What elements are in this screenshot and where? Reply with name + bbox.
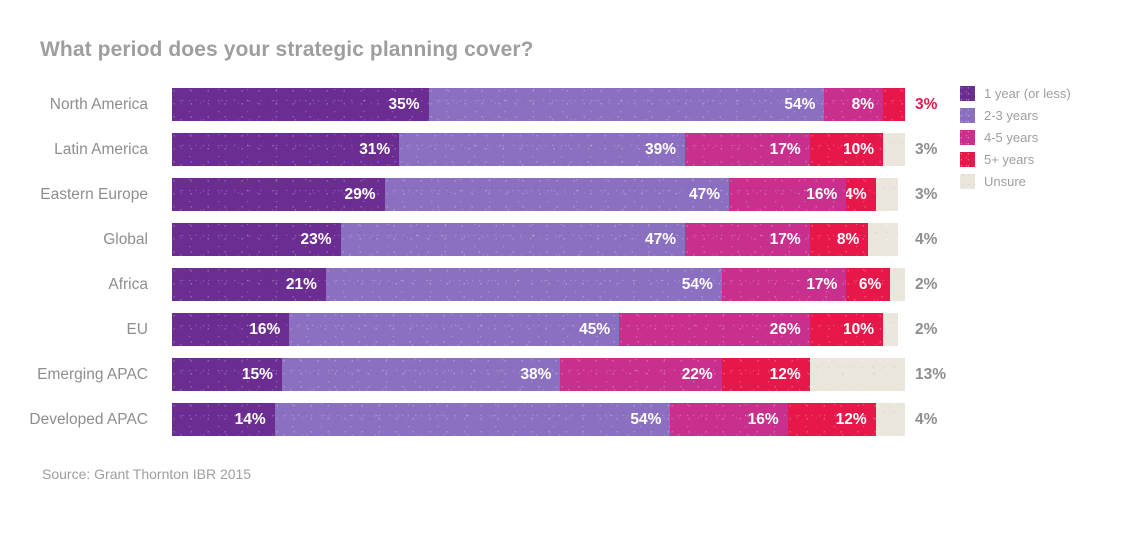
row-outside-value: 13% <box>915 358 946 391</box>
category-label-africa: Africa <box>0 268 160 301</box>
row-outside-value: 2% <box>915 268 937 301</box>
bar-row: Eastern Europe29%47%16%4%3% <box>0 178 1124 211</box>
bar-segment-y1: 31% <box>172 133 399 166</box>
segment-value-label: 10% <box>843 321 883 339</box>
plot-area: North America35%54%8%3%Latin America31%3… <box>0 88 1124 448</box>
segment-value-label: 22% <box>682 366 722 384</box>
legend-label: Unsure <box>984 174 1026 189</box>
legend-label: 4-5 years <box>984 130 1038 145</box>
segment-value-label: 23% <box>301 231 341 249</box>
bar-segment-y45: 17% <box>722 268 847 301</box>
bar-segment-unsure <box>876 403 905 436</box>
bar-segment-y1: 21% <box>172 268 326 301</box>
bar-row: Global23%47%17%8%4% <box>0 223 1124 256</box>
row-outside-value: 4% <box>915 223 937 256</box>
segment-value-label: 35% <box>389 96 429 114</box>
segment-value-label: 45% <box>579 321 619 339</box>
bar-segment-y5p: 10% <box>810 313 883 346</box>
bar-segment-y23: 39% <box>399 133 685 166</box>
segment-value-label: 54% <box>784 96 824 114</box>
legend-swatch-icon <box>960 130 975 145</box>
bar-segment-y5p <box>883 88 905 121</box>
segment-value-label: 15% <box>242 366 282 384</box>
chart-legend: 1 year (or less)2-3 years4-5 years5+ yea… <box>960 86 1071 189</box>
segment-value-label: 8% <box>852 96 883 114</box>
stacked-bar: 23%47%17%8% <box>172 223 905 256</box>
segment-value-label: 38% <box>520 366 560 384</box>
segment-value-label: 16% <box>806 186 846 204</box>
bar-row: Emerging APAC15%38%22%12%13% <box>0 358 1124 391</box>
segment-value-label: 26% <box>770 321 810 339</box>
segment-value-label: 31% <box>359 141 399 159</box>
segment-value-label: 16% <box>748 411 788 429</box>
legend-item-y5p[interactable]: 5+ years <box>960 152 1071 167</box>
legend-swatch-icon <box>960 86 975 101</box>
stacked-bar: 35%54%8% <box>172 88 905 121</box>
segment-value-label: 16% <box>249 321 289 339</box>
segment-value-label: 47% <box>645 231 685 249</box>
stacked-bar: 15%38%22%12% <box>172 358 905 391</box>
bar-segment-y5p: 12% <box>722 358 810 391</box>
segment-value-label: 14% <box>235 411 275 429</box>
segment-value-label: 4% <box>846 186 875 204</box>
bar-segment-unsure <box>868 223 897 256</box>
legend-label: 2-3 years <box>984 108 1038 123</box>
bar-segment-unsure <box>810 358 905 391</box>
stacked-bar: 21%54%17%6% <box>172 268 905 301</box>
bar-segment-y5p: 8% <box>810 223 869 256</box>
bar-segment-y1: 16% <box>172 313 289 346</box>
segment-value-label: 10% <box>843 141 883 159</box>
row-outside-value: 3% <box>915 178 937 211</box>
bar-segment-y45: 22% <box>560 358 721 391</box>
legend-label: 1 year (or less) <box>984 86 1071 101</box>
bar-segment-y45: 17% <box>685 223 810 256</box>
bar-segment-y5p: 10% <box>810 133 883 166</box>
stacked-bar: 29%47%16%4% <box>172 178 905 211</box>
legend-item-unsure[interactable]: Unsure <box>960 174 1071 189</box>
segment-value-label: 29% <box>345 186 385 204</box>
legend-label: 5+ years <box>984 152 1034 167</box>
segment-value-label: 17% <box>770 141 810 159</box>
bar-segment-y23: 54% <box>326 268 722 301</box>
category-label-latin-america: Latin America <box>0 133 160 166</box>
bar-segment-y23: 38% <box>282 358 561 391</box>
bar-row: EU16%45%26%10%2% <box>0 313 1124 346</box>
row-outside-value: 4% <box>915 403 937 436</box>
bar-segment-y23: 47% <box>385 178 730 211</box>
segment-value-label: 12% <box>836 411 876 429</box>
category-label-global: Global <box>0 223 160 256</box>
bar-segment-y45: 8% <box>824 88 883 121</box>
category-label-eu: EU <box>0 313 160 346</box>
chart-title: What period does your strategic planning… <box>40 38 534 62</box>
bar-segment-unsure <box>883 313 898 346</box>
bar-row: Latin America31%39%17%10%3% <box>0 133 1124 166</box>
bar-segment-y1: 23% <box>172 223 341 256</box>
legend-swatch-icon <box>960 108 975 123</box>
segment-value-label: 54% <box>630 411 670 429</box>
legend-swatch-icon <box>960 174 975 189</box>
stacked-bar: 16%45%26%10% <box>172 313 905 346</box>
bar-segment-y5p: 12% <box>788 403 876 436</box>
bar-segment-unsure <box>890 268 905 301</box>
legend-item-y23[interactable]: 2-3 years <box>960 108 1071 123</box>
category-label-eastern-europe: Eastern Europe <box>0 178 160 211</box>
bar-segment-y1: 29% <box>172 178 385 211</box>
bar-segment-y45: 26% <box>619 313 810 346</box>
row-outside-value: 2% <box>915 313 937 346</box>
bar-segment-y23: 47% <box>341 223 686 256</box>
bar-segment-y45: 16% <box>670 403 787 436</box>
bar-segment-y5p: 4% <box>846 178 875 211</box>
bar-segment-y1: 35% <box>172 88 429 121</box>
bar-segment-y23: 54% <box>275 403 671 436</box>
category-label-developed-apac: Developed APAC <box>0 403 160 436</box>
bar-segment-y45: 17% <box>685 133 810 166</box>
segment-value-label: 17% <box>770 231 810 249</box>
bar-row: Africa21%54%17%6%2% <box>0 268 1124 301</box>
bar-segment-y45: 16% <box>729 178 846 211</box>
segment-value-label: 39% <box>645 141 685 159</box>
stacked-bar: 14%54%16%12% <box>172 403 905 436</box>
segment-value-label: 8% <box>837 231 868 249</box>
legend-item-y1[interactable]: 1 year (or less) <box>960 86 1071 101</box>
bar-segment-unsure <box>876 178 898 211</box>
category-label-emerging-apac: Emerging APAC <box>0 358 160 391</box>
source-note: Source: Grant Thornton IBR 2015 <box>42 466 251 482</box>
bar-segment-y23: 54% <box>429 88 825 121</box>
segment-value-label: 12% <box>770 366 810 384</box>
bar-segment-y1: 14% <box>172 403 275 436</box>
bar-segment-unsure <box>883 133 905 166</box>
legend-swatch-icon <box>960 152 975 167</box>
stacked-bar: 31%39%17%10% <box>172 133 905 166</box>
category-label-north-america: North America <box>0 88 160 121</box>
bar-row: Developed APAC14%54%16%12%4% <box>0 403 1124 436</box>
segment-value-label: 21% <box>286 276 326 294</box>
row-outside-value: 3% <box>915 88 937 121</box>
bar-segment-y23: 45% <box>289 313 619 346</box>
chart-container: What period does your strategic planning… <box>0 0 1124 543</box>
segment-value-label: 47% <box>689 186 729 204</box>
bar-row: North America35%54%8%3% <box>0 88 1124 121</box>
segment-value-label: 6% <box>859 276 890 294</box>
bar-segment-y5p: 6% <box>846 268 890 301</box>
legend-item-y45[interactable]: 4-5 years <box>960 130 1071 145</box>
segment-value-label: 17% <box>806 276 846 294</box>
segment-value-label: 54% <box>682 276 722 294</box>
row-outside-value: 3% <box>915 133 937 166</box>
bar-segment-y1: 15% <box>172 358 282 391</box>
